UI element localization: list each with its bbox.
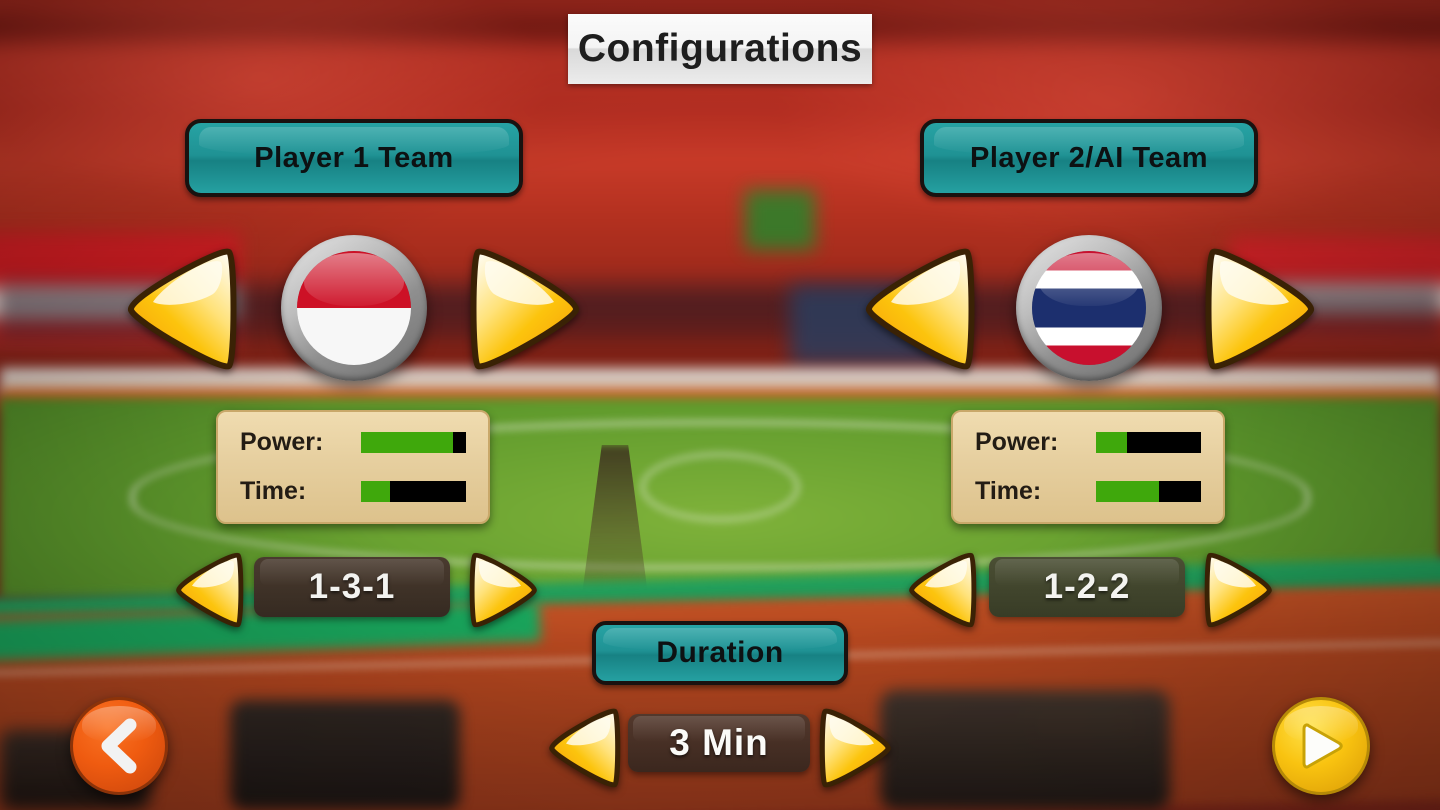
player2-time-label: Time:	[975, 477, 1096, 506]
duration-header[interactable]: Duration	[592, 621, 848, 685]
player1-stats-panel: Power: Time:	[216, 410, 490, 524]
duration-value-box[interactable]: 3 Min	[628, 714, 810, 772]
player2-power-bar	[1096, 432, 1201, 453]
player1-formation-value: 1-3-1	[309, 567, 396, 607]
configurations-screen: Configurations Player 1 Team Player 2/AI…	[0, 0, 1440, 810]
player1-team-header-label: Player 1 Team	[254, 142, 453, 175]
player2-stats-panel: Power: Time:	[951, 410, 1225, 524]
page-title-banner: Configurations	[568, 14, 872, 84]
back-button[interactable]	[70, 697, 168, 795]
player1-power-bar	[361, 432, 466, 453]
player2-team-header-label: Player 2/AI Team	[970, 142, 1208, 175]
player2-formation-value: 1-2-2	[1044, 567, 1131, 607]
next-button[interactable]	[1272, 697, 1370, 795]
player2-team-header[interactable]: Player 2/AI Team	[920, 119, 1258, 197]
player1-time-bar-fill	[361, 481, 389, 502]
player2-formation-box[interactable]: 1-2-2	[989, 557, 1185, 617]
player2-power-row: Power:	[975, 428, 1201, 457]
player1-power-row: Power:	[240, 428, 466, 457]
player1-time-row: Time:	[240, 477, 466, 506]
player2-power-label: Power:	[975, 428, 1096, 457]
player2-flag-badge[interactable]	[1016, 235, 1162, 381]
player1-flag-badge[interactable]	[281, 235, 427, 381]
player2-time-bar	[1096, 481, 1201, 502]
play-triangle-icon	[1291, 716, 1351, 776]
player2-power-bar-fill	[1096, 432, 1126, 453]
player2-time-row: Time:	[975, 477, 1201, 506]
player1-power-label: Power:	[240, 428, 361, 457]
player1-time-label: Time:	[240, 477, 361, 506]
player2-time-bar-fill	[1096, 481, 1159, 502]
duration-value: 3 Min	[669, 722, 769, 764]
player1-power-bar-fill	[361, 432, 453, 453]
duration-header-label: Duration	[656, 636, 783, 670]
player1-time-bar	[361, 481, 466, 502]
flag-indonesia-icon	[297, 251, 411, 365]
player1-formation-box[interactable]: 1-3-1	[254, 557, 450, 617]
page-title: Configurations	[578, 27, 862, 71]
flag-thailand-icon	[1032, 251, 1146, 365]
player1-team-header[interactable]: Player 1 Team	[185, 119, 523, 197]
chevron-left-icon	[90, 717, 148, 775]
